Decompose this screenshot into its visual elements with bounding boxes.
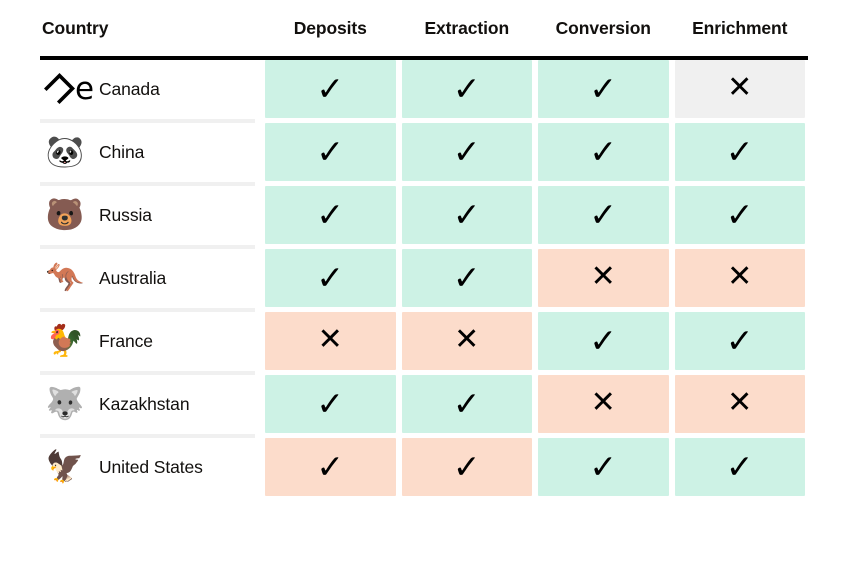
check-icon: ✓ xyxy=(316,387,344,420)
matrix-cell-deposits[interactable]: ✓ xyxy=(262,186,399,244)
country-cell: 🦅United States xyxy=(40,438,262,496)
country-cell-inner: 🐼China xyxy=(40,123,262,181)
kangaroo-emoji: 🦘 xyxy=(44,263,86,294)
header-divider-rule xyxy=(40,56,808,60)
country-cell-inner: 🦘Australia xyxy=(40,249,262,307)
table-row[interactable]: 🮬eCanada✓✓✓✕ xyxy=(40,60,808,118)
check-icon: ✓ xyxy=(453,135,481,168)
country-cell: 🮬eCanada xyxy=(40,60,262,118)
status-chip-yes: ✓ xyxy=(402,60,533,118)
status-chip-no: ✕ xyxy=(538,375,669,433)
matrix-cell-conversion[interactable]: ✓ xyxy=(535,438,672,496)
table-row[interactable]: 🐺Kazakhstan✓✓✕✕ xyxy=(40,375,808,433)
cross-icon: ✕ xyxy=(591,262,616,292)
matrix-cell-enrichment[interactable]: ✕ xyxy=(672,60,809,118)
table-body: 🮬eCanada✓✓✓✕🐼China✓✓✓✓🐻Russia✓✓✓✓🦘Austra… xyxy=(40,60,808,496)
status-chip-yes: ✓ xyxy=(538,186,669,244)
matrix-cell-conversion[interactable]: ✓ xyxy=(535,312,672,370)
country-cell-inner: 🐻Russia xyxy=(40,186,262,244)
matrix-cell-extraction[interactable]: ✕ xyxy=(399,312,536,370)
country-name-label: United States xyxy=(99,457,203,478)
check-icon: ✓ xyxy=(316,198,344,231)
matrix-cell-deposits[interactable]: ✓ xyxy=(262,438,399,496)
status-chip-yes: ✓ xyxy=(265,375,396,433)
matrix-cell-conversion[interactable]: ✕ xyxy=(535,375,672,433)
matrix-cell-conversion[interactable]: ✓ xyxy=(535,60,672,118)
check-icon: ✓ xyxy=(316,135,344,168)
panda-emoji: 🐼 xyxy=(44,137,86,168)
table-row[interactable]: 🐼China✓✓✓✓ xyxy=(40,123,808,181)
check-icon: ✓ xyxy=(316,261,344,294)
capability-matrix-table: Country Deposits Extraction Conversion E… xyxy=(40,18,808,496)
check-icon: ✓ xyxy=(589,135,617,168)
matrix-cell-extraction[interactable]: ✓ xyxy=(399,375,536,433)
status-chip-yes: ✓ xyxy=(538,312,669,370)
matrix-cell-deposits[interactable]: ✓ xyxy=(262,249,399,307)
status-chip-yes: ✓ xyxy=(402,375,533,433)
cross-icon: ✕ xyxy=(318,325,343,355)
status-chip-yes: ✓ xyxy=(538,438,669,496)
country-cell-inner: 🐺Kazakhstan xyxy=(40,375,262,433)
check-icon: ✓ xyxy=(589,324,617,357)
row-separator-line xyxy=(40,119,255,123)
check-icon: ✓ xyxy=(453,72,481,105)
status-chip-no: ✕ xyxy=(675,375,806,433)
matrix-cell-deposits[interactable]: ✓ xyxy=(262,123,399,181)
country-cell-inner: 🮬eCanada xyxy=(40,60,262,118)
country-cell-inner: 🦅United States xyxy=(40,438,262,496)
matrix-cell-deposits[interactable]: ✕ xyxy=(262,312,399,370)
matrix-cell-enrichment[interactable]: ✓ xyxy=(672,312,809,370)
status-chip-yes: ✓ xyxy=(265,60,396,118)
check-icon: ✓ xyxy=(589,198,617,231)
cross-icon: ✕ xyxy=(727,73,752,103)
status-chip-yes: ✓ xyxy=(265,123,396,181)
matrix-cell-enrichment[interactable]: ✕ xyxy=(672,375,809,433)
header-row: Country Deposits Extraction Conversion E… xyxy=(40,18,808,55)
check-icon: ✓ xyxy=(453,261,481,294)
status-chip-yes: ✓ xyxy=(538,60,669,118)
rooster-emoji: 🐓 xyxy=(44,326,86,357)
eagle-emoji: 🦅 xyxy=(44,452,86,483)
status-chip-no: ✕ xyxy=(675,249,806,307)
table-row[interactable]: 🦘Australia✓✓✕✕ xyxy=(40,249,808,307)
table-row[interactable]: 🐻Russia✓✓✓✓ xyxy=(40,186,808,244)
matrix-cell-extraction[interactable]: ✓ xyxy=(399,123,536,181)
cross-icon: ✕ xyxy=(727,388,752,418)
row-separator-line xyxy=(40,182,255,186)
status-chip-yes: ✓ xyxy=(675,123,806,181)
column-header-extraction: Extraction xyxy=(399,18,536,55)
country-cell: 🐻Russia xyxy=(40,186,262,244)
matrix-cell-extraction[interactable]: ✓ xyxy=(399,60,536,118)
check-icon: ✓ xyxy=(589,450,617,483)
table-header: Country Deposits Extraction Conversion E… xyxy=(40,18,808,60)
cross-icon: ✕ xyxy=(727,262,752,292)
matrix-cell-extraction[interactable]: ✓ xyxy=(399,438,536,496)
status-chip-yes: ✓ xyxy=(675,312,806,370)
status-chip-no: ✕ xyxy=(402,312,533,370)
matrix-cell-enrichment[interactable]: ✓ xyxy=(672,123,809,181)
row-separator-line xyxy=(40,245,255,249)
matrix-cell-enrichment[interactable]: ✓ xyxy=(672,186,809,244)
column-header-country: Country xyxy=(40,18,262,55)
status-chip-no: ✓ xyxy=(402,438,533,496)
bear-emoji: 🐻 xyxy=(44,200,86,231)
matrix-cell-enrichment[interactable]: ✕ xyxy=(672,249,809,307)
country-name-label: Canada xyxy=(99,79,160,100)
status-chip-yes: ✓ xyxy=(675,438,806,496)
table-row[interactable]: 🦅United States✓✓✓✓ xyxy=(40,438,808,496)
status-chip-no: ✕ xyxy=(538,249,669,307)
status-chip-no: ✕ xyxy=(265,312,396,370)
matrix-cell-extraction[interactable]: ✓ xyxy=(399,249,536,307)
check-icon: ✓ xyxy=(726,198,754,231)
wolf-emoji: 🐺 xyxy=(44,389,86,420)
check-icon: ✓ xyxy=(726,324,754,357)
check-icon: ✓ xyxy=(316,450,344,483)
column-header-conversion: Conversion xyxy=(535,18,672,55)
check-icon: ✓ xyxy=(453,387,481,420)
row-separator-line xyxy=(40,434,255,438)
check-icon: ✓ xyxy=(726,135,754,168)
country-name-label: Australia xyxy=(99,268,166,289)
matrix-cell-deposits[interactable]: ✓ xyxy=(262,60,399,118)
country-cell: 🐼China xyxy=(40,123,262,181)
country-name-label: France xyxy=(99,331,153,352)
matrix-cell-conversion[interactable]: ✓ xyxy=(535,186,672,244)
country-cell: 🦘Australia xyxy=(40,249,262,307)
matrix-cell-deposits[interactable]: ✓ xyxy=(262,375,399,433)
check-icon: ✓ xyxy=(316,72,344,105)
check-icon: ✓ xyxy=(453,198,481,231)
column-header-enrichment: Enrichment xyxy=(672,18,809,55)
cross-icon: ✕ xyxy=(591,388,616,418)
status-chip-yes: ✓ xyxy=(675,186,806,244)
cross-icon: ✕ xyxy=(454,325,479,355)
status-chip-yes: ✓ xyxy=(265,249,396,307)
country-name-label: China xyxy=(99,142,144,163)
country-cell: 🐓France xyxy=(40,312,262,370)
status-chip-no: ✓ xyxy=(265,438,396,496)
matrix-cell-conversion[interactable]: ✓ xyxy=(535,123,672,181)
status-chip-yes: ✓ xyxy=(538,123,669,181)
matrix-cell-extraction[interactable]: ✓ xyxy=(399,186,536,244)
check-icon: ✓ xyxy=(726,450,754,483)
row-separator-line xyxy=(40,371,255,375)
matrix-cell-enrichment[interactable]: ✓ xyxy=(672,438,809,496)
status-chip-yes: ✓ xyxy=(402,123,533,181)
moose-emoji: 🮬e xyxy=(44,74,86,105)
table-canvas: Country Deposits Extraction Conversion E… xyxy=(0,0,842,587)
country-name-label: Kazakhstan xyxy=(99,394,189,415)
column-header-deposits: Deposits xyxy=(262,18,399,55)
check-icon: ✓ xyxy=(453,450,481,483)
table-row[interactable]: 🐓France✕✕✓✓ xyxy=(40,312,808,370)
country-name-label: Russia xyxy=(99,205,152,226)
row-separator-line xyxy=(40,308,255,312)
status-chip-yes: ✓ xyxy=(265,186,396,244)
status-chip-yes: ✓ xyxy=(402,249,533,307)
country-cell: 🐺Kazakhstan xyxy=(40,375,262,433)
check-icon: ✓ xyxy=(589,72,617,105)
status-chip-na: ✕ xyxy=(675,60,806,118)
matrix-cell-conversion[interactable]: ✕ xyxy=(535,249,672,307)
country-cell-inner: 🐓France xyxy=(40,312,262,370)
status-chip-yes: ✓ xyxy=(402,186,533,244)
